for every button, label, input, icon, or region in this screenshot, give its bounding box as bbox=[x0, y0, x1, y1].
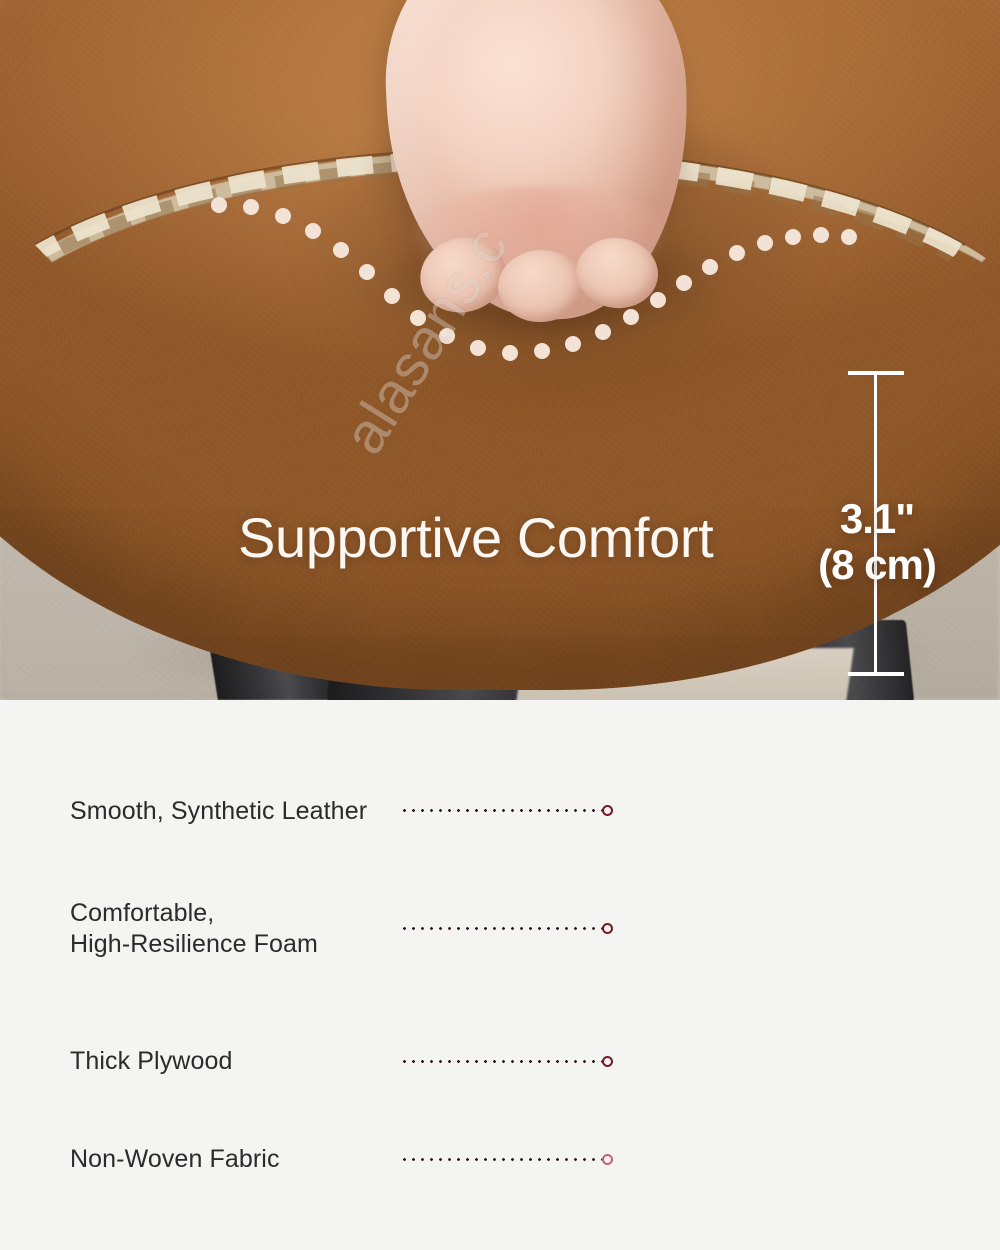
leader-endpoint-leather bbox=[602, 805, 613, 816]
dimension-cap-bottom bbox=[848, 672, 904, 676]
dimension-inches: 3.1" bbox=[792, 496, 962, 542]
layer-label-foam: Comfortable, High-Resilience Foam bbox=[70, 898, 318, 960]
leader-line-fabric bbox=[400, 1158, 608, 1161]
leader-dots-leather bbox=[400, 809, 608, 812]
layer-label-fabric: Non-Woven Fabric bbox=[70, 1144, 280, 1175]
leader-dots-plywood bbox=[400, 1060, 608, 1063]
leader-endpoint-foam bbox=[602, 923, 613, 934]
layer-label-leather: Smooth, Synthetic Leather bbox=[70, 796, 367, 827]
dimension-cap-top bbox=[848, 371, 904, 375]
dimension-metric: (8 cm) bbox=[792, 542, 962, 588]
leader-line-foam bbox=[400, 927, 608, 930]
hero-product-photo: Supportive Comfort 3.1" (8 cm) bbox=[0, 0, 1000, 700]
exploded-layers-diagram: Smooth, Synthetic Leather Comfortable, H… bbox=[0, 700, 1000, 1250]
leader-line-plywood bbox=[400, 1060, 608, 1063]
leader-endpoint-plywood bbox=[602, 1056, 613, 1067]
headline-text: Supportive Comfort bbox=[238, 505, 713, 570]
layer-label-plywood: Thick Plywood bbox=[70, 1046, 232, 1077]
leader-dots-foam bbox=[400, 927, 608, 930]
dimension-label: 3.1" (8 cm) bbox=[792, 496, 962, 588]
leader-line-leather bbox=[400, 809, 608, 812]
leader-endpoint-fabric bbox=[602, 1154, 613, 1165]
leader-dots-fabric bbox=[400, 1158, 608, 1161]
